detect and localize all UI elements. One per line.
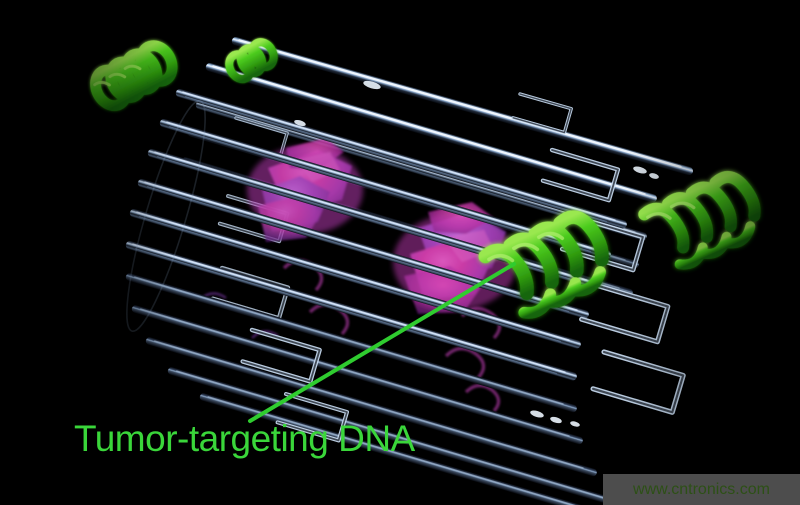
watermark-bar: www.cntronics.com	[603, 474, 800, 505]
annotation-label: Tumor-targeting DNA	[74, 420, 415, 457]
nanorobot-illustration: Tumor-targeting DNA www.cntronics.com	[0, 0, 800, 505]
watermark-text: www.cntronics.com	[633, 481, 770, 499]
